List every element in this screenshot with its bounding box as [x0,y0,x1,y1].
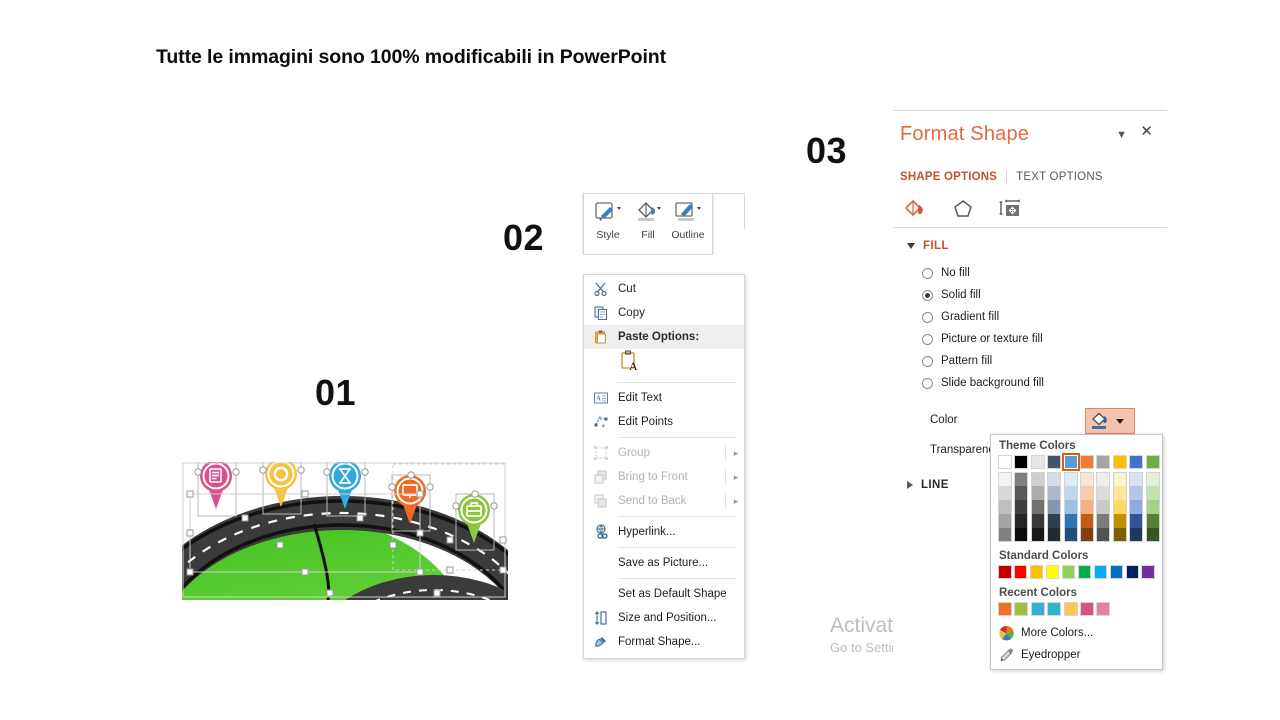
context-menu-item-copy[interactable]: Copy [584,301,744,325]
context-menu-divider-stb [725,493,726,509]
radio-button[interactable] [922,268,933,279]
line-section-header[interactable]: LINE [907,479,949,491]
context-menu-label-group: Group [618,447,728,459]
theme-swatch-shade[interactable] [1146,528,1160,542]
theme-swatch-shade[interactable] [1031,500,1045,514]
recent-swatch[interactable] [1064,602,1078,616]
theme-swatch-base[interactable] [1080,455,1094,469]
theme-swatch-shade[interactable] [1031,514,1045,528]
standard-swatch[interactable] [1141,565,1155,579]
context-menu-item-set-default-shape[interactable]: Set as Default Shape [584,582,744,606]
recent-colors-heading: Recent Colors [991,579,1162,602]
context-menu-separator-1 [618,382,736,383]
recent-swatch[interactable] [1031,602,1045,616]
context-menu-label-size-and-position: Size and Position... [618,612,744,624]
paste-options-row[interactable]: A [584,349,744,379]
scissors-icon [584,281,618,297]
tab-divider [1006,170,1007,183]
theme-swatch-shade[interactable] [1064,514,1078,528]
theme-swatch-base[interactable] [1014,455,1028,469]
triangle-down-icon [907,243,915,249]
recent-swatch[interactable] [998,602,1012,616]
context-menu-item-edit-text[interactable]: A Edit Text [584,386,744,410]
theme-swatch-shade[interactable] [1014,514,1028,528]
theme-color-column-10 [1146,455,1160,542]
mini-toolbar-edge [713,193,745,229]
theme-swatch-shade[interactable] [1064,472,1078,486]
theme-swatch-shade[interactable] [1129,528,1143,542]
radio-gradient-fill[interactable]: Gradient fill [922,311,999,323]
theme-swatch-shade[interactable] [1047,500,1061,514]
context-menu-label-bring-to-front: Bring to Front [618,471,728,483]
theme-swatch-shade[interactable] [998,514,1012,528]
fill-section-header[interactable]: FILL [907,240,949,252]
theme-color-column-2 [1014,455,1028,542]
mini-toolbar-outline-label: Outline [668,229,708,241]
standard-swatch[interactable] [1078,565,1092,579]
theme-color-column-9 [1129,455,1143,542]
context-menu-label-edit-points: Edit Points [618,416,744,428]
theme-swatch-shade[interactable] [1064,500,1078,514]
theme-swatch-shade[interactable] [1014,500,1028,514]
send-to-back-icon [584,493,618,509]
theme-swatch-shade[interactable] [1113,500,1127,514]
context-menu-label-paste-options: Paste Options: [618,331,744,343]
theme-swatch-shade[interactable] [1031,528,1045,542]
fill-line-icon[interactable] [900,195,930,223]
step-number-01: 01 [315,372,356,414]
context-menu-label-hyperlink: Hyperlink... [618,526,744,538]
bring-to-front-icon [584,469,618,485]
theme-color-column-4 [1047,455,1061,542]
context-menu-divider-group [725,445,726,461]
context-menu-label-save-as-picture: Save as Picture... [618,557,744,569]
mini-toolbar-outline-button[interactable]: Outline [668,200,708,241]
context-menu-item-edit-points[interactable]: Edit Points [584,410,744,434]
context-menu-label-set-default-shape: Set as Default Shape [618,588,744,600]
theme-color-column-8 [1113,455,1127,542]
theme-swatch-shade[interactable] [1129,500,1143,514]
theme-swatch-base[interactable] [1146,455,1160,469]
theme-swatch-shade[interactable] [1031,472,1045,486]
context-menu-item-group: Group ▸ [584,441,744,465]
format-shape-icon [584,634,618,650]
theme-swatch-shade[interactable] [1113,528,1127,542]
icon-tabs-underline [893,227,1167,228]
format-pane-icon-tabs[interactable] [900,195,1026,223]
theme-colors-grid[interactable] [991,455,1162,542]
standard-swatch[interactable] [1014,565,1028,579]
context-menu-separator-3 [618,516,736,517]
theme-color-column-5 [1064,455,1078,542]
color-picker-dropdown[interactable]: Theme Colors [990,434,1163,670]
copy-icon [584,305,618,321]
context-menu-label-send-to-back: Send to Back [618,495,728,507]
theme-swatch-shade[interactable] [1047,472,1061,486]
standard-swatch[interactable] [1062,565,1076,579]
radio-picture-or-texture-fill[interactable]: Picture or texture fill [922,333,1043,345]
radio-no-fill[interactable]: No fill [922,267,970,279]
shape-style-icon [588,200,628,226]
standard-swatch[interactable] [1126,565,1140,579]
theme-swatch-shade[interactable] [998,528,1012,542]
theme-swatch-base[interactable] [998,455,1012,469]
hyperlink-icon [584,524,618,540]
radio-pattern-fill[interactable]: Pattern fill [922,355,992,367]
theme-swatch-shade[interactable] [1031,486,1045,500]
theme-swatch-base[interactable] [1096,455,1110,469]
color-wheel-icon [991,625,1021,642]
theme-color-column-1 [998,455,1012,542]
chevron-right-icon: ▸ [728,496,744,507]
theme-swatch-shade[interactable] [1113,486,1127,500]
mini-toolbar-style-button[interactable]: Style [588,200,628,241]
eyedropper-icon [991,647,1021,664]
radio-label-gradient-fill: Gradient fill [941,311,999,323]
recent-swatch[interactable] [1014,602,1028,616]
paste-icon [584,329,618,345]
close-icon[interactable]: ✕ [1140,124,1153,139]
context-menu-divider-btf [725,469,726,485]
step-number-02: 02 [503,217,544,259]
mini-toolbar-fill-button[interactable]: Fill [628,200,668,241]
theme-swatch-base[interactable] [1031,455,1045,469]
standard-swatch[interactable] [1110,565,1124,579]
theme-swatch-shade[interactable] [1096,486,1110,500]
theme-swatch-shade[interactable] [1146,500,1160,514]
paste-text-only-icon[interactable]: A [618,350,642,379]
context-menu-item-bring-to-front: Bring to Front ▸ [584,465,744,489]
theme-swatch-shade[interactable] [1146,514,1160,528]
line-section-title: LINE [921,479,949,491]
theme-swatch-shade[interactable] [1080,514,1094,528]
tab-shape-options[interactable]: SHAPE OPTIONS [900,171,997,183]
theme-swatch-shade[interactable] [1047,528,1061,542]
context-menu-item-send-to-back: Send to Back ▸ [584,489,744,513]
size-position-icon [584,610,618,626]
tab-text-options[interactable]: TEXT OPTIONS [1016,171,1103,183]
recent-swatch[interactable] [1047,602,1061,616]
page-title: Tutte le immagini sono 100% modificabili… [156,46,666,69]
more-colors-item[interactable]: More Colors... [991,622,1162,644]
theme-swatch-shade[interactable] [1096,528,1110,542]
theme-swatch-shade[interactable] [1080,472,1094,486]
radio-button[interactable] [922,312,933,323]
theme-color-column-7 [1096,455,1110,542]
theme-swatch-shade[interactable] [998,486,1012,500]
radio-label-pattern-fill: Pattern fill [941,355,992,367]
theme-swatch-shade[interactable] [1113,514,1127,528]
theme-swatch-shade[interactable] [1014,528,1028,542]
pencil-outline-icon [668,200,708,226]
fill-color-button[interactable] [1085,408,1135,434]
eyedropper-label: Eyedropper [1021,649,1080,661]
svg-text:A: A [596,395,601,403]
theme-swatch-shade[interactable] [1096,514,1110,528]
theme-swatch-shade[interactable] [998,472,1012,486]
context-menu-separator-2 [618,437,736,438]
radio-button[interactable] [922,356,933,367]
theme-swatch-shade[interactable] [1047,514,1061,528]
radio-label-picture-fill: Picture or texture fill [941,333,1043,345]
mini-toolbar-gap [583,255,746,273]
triangle-right-icon [907,481,913,489]
standard-colors-grid[interactable] [991,565,1162,579]
radio-button[interactable] [922,290,933,301]
theme-swatch-shade[interactable] [1080,528,1094,542]
group-icon [584,445,618,461]
size-properties-icon[interactable] [996,195,1026,223]
theme-swatch-shade[interactable] [1129,472,1143,486]
theme-color-column-3 [1031,455,1045,542]
theme-swatch-shade[interactable] [1080,500,1094,514]
chevron-right-icon: ▸ [728,472,744,483]
theme-swatch-shade[interactable] [1014,486,1028,500]
theme-colors-heading: Theme Colors [991,435,1162,455]
context-menu-label-cut: Cut [618,283,744,295]
theme-swatch-shade[interactable] [1064,528,1078,542]
theme-swatch-shade[interactable] [1096,472,1110,486]
theme-swatch-shade[interactable] [1080,486,1094,500]
theme-swatch-base[interactable] [1129,455,1143,469]
recent-swatch[interactable] [1080,602,1094,616]
recent-colors-grid[interactable] [991,602,1162,616]
radio-label-solid-fill: Solid fill [941,289,981,301]
radio-label-slide-background-fill: Slide background fill [941,377,1044,389]
mini-toolbar-style-label: Style [588,229,628,241]
standard-swatch[interactable] [998,565,1012,579]
radio-slide-background-fill[interactable]: Slide background fill [922,377,1044,389]
context-menu-item-paste-options[interactable]: Paste Options: [584,325,744,349]
theme-swatch-shade[interactable] [1014,472,1028,486]
step-number-03: 03 [806,130,847,172]
theme-swatch-shade[interactable] [1129,486,1143,500]
theme-swatch-shade[interactable] [1047,486,1061,500]
roadmap-pin-1 [200,462,232,509]
context-menu-separator-5 [618,578,736,579]
fill-color-icon [1086,411,1116,431]
context-menu-item-size-and-position[interactable]: Size and Position... [584,606,744,630]
standard-swatch[interactable] [1094,565,1108,579]
fill-section-title: FILL [923,240,949,252]
effects-pentagon-icon[interactable] [948,195,978,223]
theme-swatch-base[interactable] [1113,455,1127,469]
context-menu-item-hyperlink[interactable]: Hyperlink... [584,520,744,544]
context-menu-item-cut[interactable]: Cut [584,277,744,301]
context-menu[interactable]: Cut Copy Paste Options: [583,274,745,659]
theme-swatch-shade[interactable] [1113,472,1127,486]
chevron-right-icon: ▸ [728,448,744,459]
chevron-down-icon[interactable]: ▼ [1116,129,1127,141]
radio-label-no-fill: No fill [941,267,970,279]
radio-solid-fill[interactable]: Solid fill [922,289,981,301]
theme-swatch-shade[interactable] [1146,486,1160,500]
standard-colors-heading: Standard Colors [991,542,1162,565]
context-menu-separator-4 [618,547,736,548]
theme-swatch-shade[interactable] [1064,486,1078,500]
radio-button[interactable] [922,378,933,389]
theme-swatch-shade[interactable] [998,500,1012,514]
context-menu-item-save-as-picture[interactable]: Save as Picture... [584,551,744,575]
more-colors-label: More Colors... [1021,627,1093,639]
theme-swatch-shade[interactable] [1146,472,1160,486]
standard-swatch[interactable] [1030,565,1044,579]
context-menu-label-copy: Copy [618,307,744,319]
mini-toolbar-fill-label: Fill [628,229,668,241]
theme-swatch-shade[interactable] [1129,514,1143,528]
context-menu-label-format-shape: Format Shape... [618,636,744,648]
format-pane-tabs[interactable]: SHAPE OPTIONS TEXT OPTIONS [900,170,1103,183]
recent-swatch[interactable] [1096,602,1110,616]
theme-color-column-6 [1080,455,1094,542]
theme-swatch-base[interactable] [1047,455,1061,469]
theme-swatch-base-selected[interactable] [1064,455,1078,469]
paint-bucket-icon [628,200,668,226]
roadmap-graphic[interactable] [182,462,508,600]
edit-points-icon [584,414,618,430]
radio-button[interactable] [922,334,933,345]
eyedropper-item[interactable]: Eyedropper [991,644,1162,666]
mini-toolbar[interactable]: Style Fill [583,193,713,255]
context-menu-item-format-shape[interactable]: Format Shape... [584,630,744,654]
color-row-label: Color [930,414,957,426]
active-tab-caret [909,220,923,227]
format-shape-pane-title: Format Shape [900,123,1029,146]
edit-text-icon: A [584,390,618,406]
svg-text:A: A [629,359,638,373]
context-menu-label-edit-text: Edit Text [618,392,744,404]
theme-swatch-shade[interactable] [1096,500,1110,514]
standard-swatch[interactable] [1046,565,1060,579]
chevron-down-icon[interactable] [1116,419,1124,424]
